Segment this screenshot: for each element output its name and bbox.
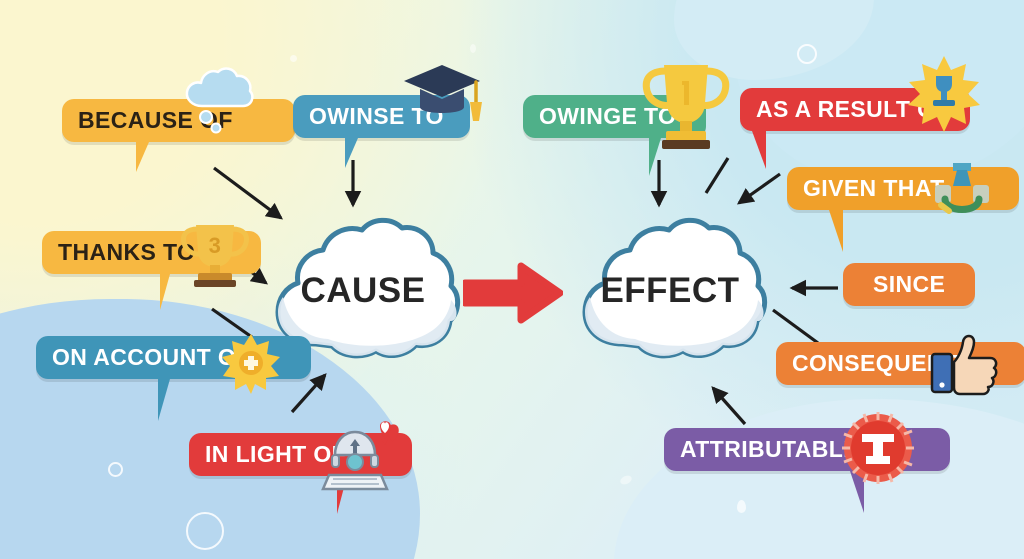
bubble-tail [811, 210, 843, 252]
label-since-text: SINCE [873, 272, 945, 296]
label-as-a-result-of[interactable]: AS A RESULT OF [740, 88, 970, 131]
bubble-tail [160, 274, 200, 310]
bubble-tail [746, 131, 766, 169]
bubble-tail [158, 379, 198, 421]
label-as-a-result-of-text: AS A RESULT OF [756, 97, 950, 121]
label-given-that[interactable]: GIVEN THAT [787, 167, 1019, 210]
bubble-tail [136, 142, 162, 172]
infographic-canvas: CAUSE EFFECT BECAUSE OF OWINSE TO [0, 0, 1024, 559]
label-attributable-to[interactable]: ATTRIBUTABLE TO [664, 428, 950, 471]
label-in-light-of[interactable]: IN LIGHT OF [189, 433, 412, 476]
arrow-in-light-of [292, 375, 325, 412]
label-because-of-text: BECAUSE OF [78, 108, 233, 132]
label-thanks-to-text: THANKS TO [58, 240, 195, 264]
label-owinse-to-text: OWINSE TO [309, 104, 444, 128]
arrow-because-of [214, 168, 281, 218]
label-owinge-to[interactable]: OWINGE TO [523, 95, 706, 138]
svg-text:3: 3 [209, 233, 222, 258]
bubble-tail [337, 476, 373, 514]
arrow-as-a-result-of [706, 158, 728, 193]
cause-to-effect-arrow [463, 262, 563, 329]
label-consequent-text: CONSEQUENT [792, 351, 958, 375]
label-because-of[interactable]: BECAUSE OF [62, 99, 295, 142]
label-on-account-of[interactable]: ON ACCOUNT OF [36, 336, 311, 379]
arrow-given-that [739, 174, 780, 203]
arrow-consequent [773, 310, 818, 343]
effect-cloud: EFFECT [565, 212, 775, 372]
label-given-that-text: GIVEN THAT [803, 176, 945, 200]
label-in-light-of-text: IN LIGHT OF [205, 442, 346, 466]
label-owinse-to[interactable]: OWINSE TO [293, 95, 470, 138]
label-consequent[interactable]: CONSEQUENT [776, 342, 1024, 385]
label-since[interactable]: SINCE [843, 263, 975, 306]
label-on-account-of-text: ON ACCOUNT OF [52, 345, 251, 369]
bubble-tail [830, 471, 864, 513]
label-owinge-to-text: OWINGE TO [539, 104, 676, 128]
arrow-attributable-to [713, 388, 745, 424]
effect-label: EFFECT [565, 271, 775, 311]
bubble-tail [345, 138, 371, 168]
label-attributable-to-text: ATTRIBUTABLE TO [680, 437, 898, 461]
cause-label: CAUSE [258, 271, 468, 311]
bubble-tail [649, 138, 687, 176]
label-thanks-to[interactable]: THANKS TO 3 [42, 231, 261, 274]
